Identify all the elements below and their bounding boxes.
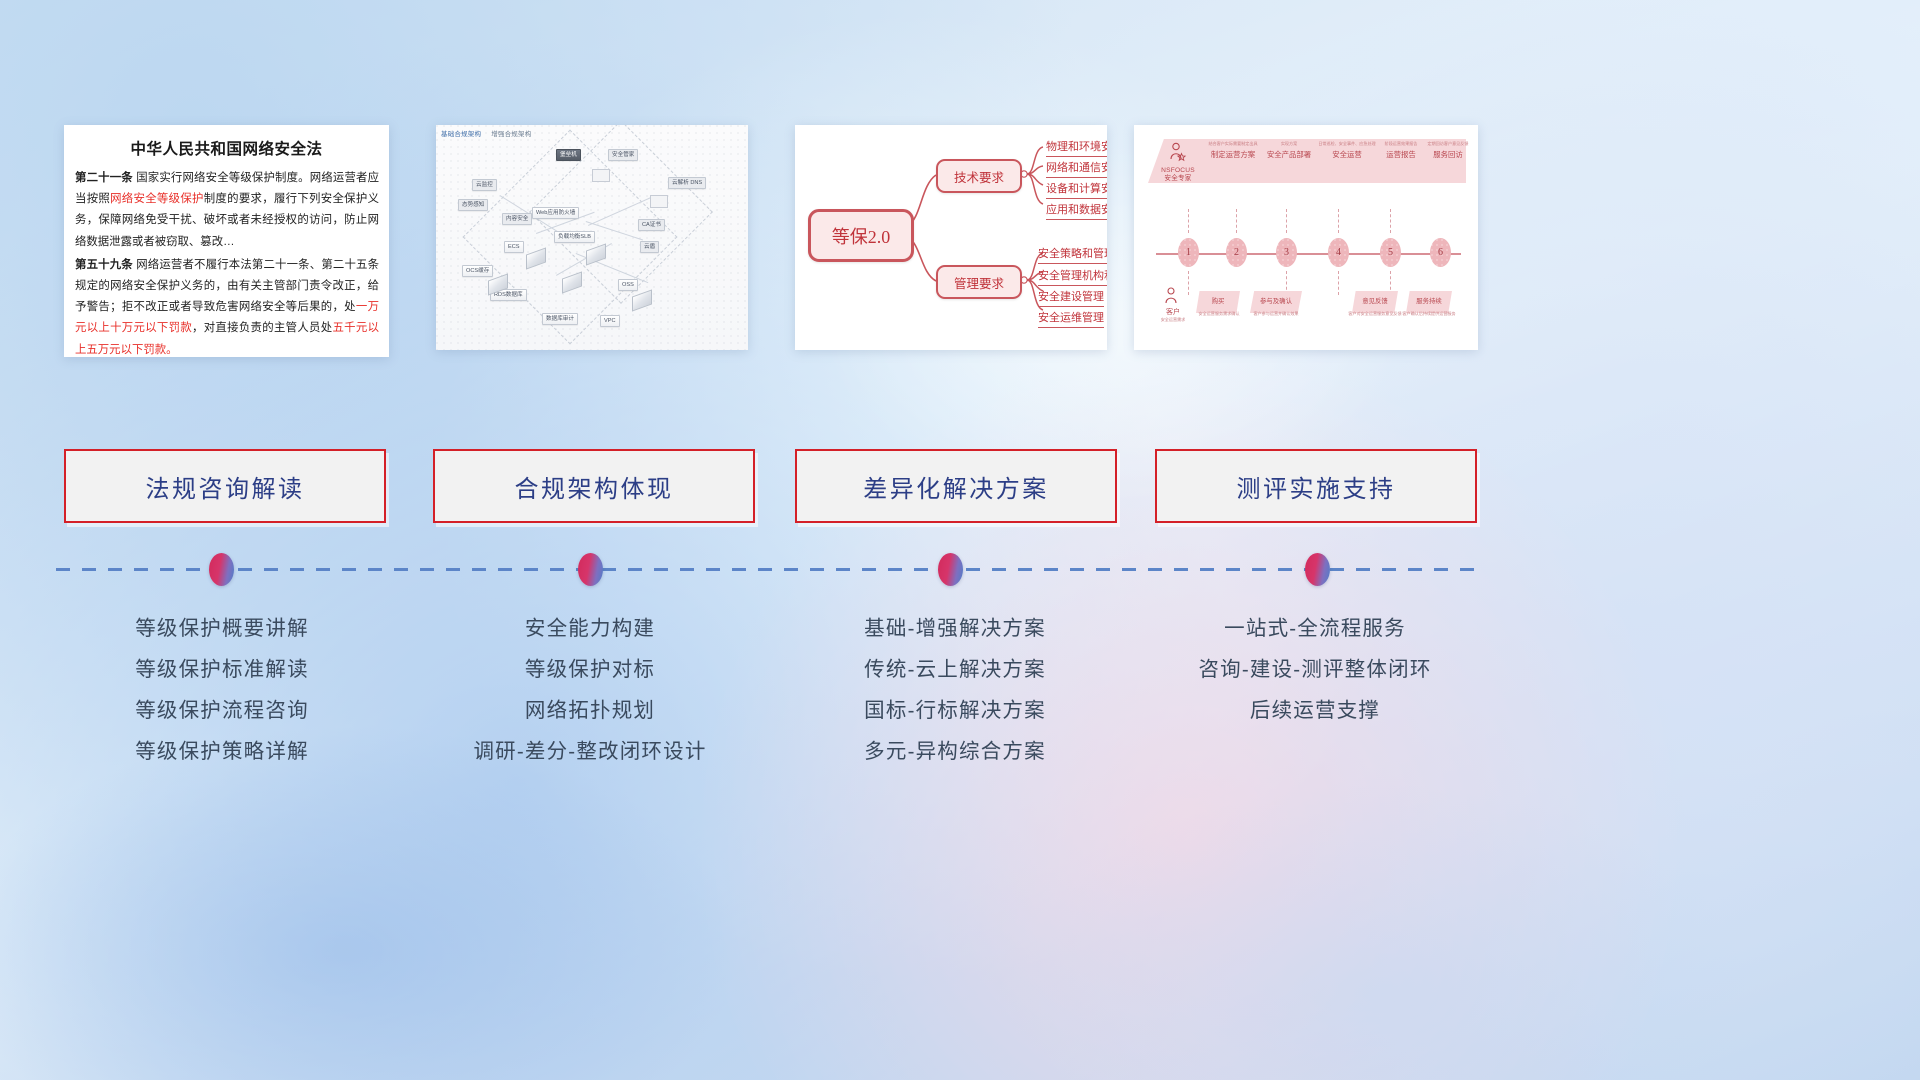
nsfocus-step: 4 — [1328, 238, 1349, 267]
law-paragraph: 第二十一条 国家实行网络安全等级保护制度。网络运营者应当按照网络安全等级保护制度… — [75, 168, 379, 253]
headline-label: 测评实施支持 — [1237, 469, 1396, 504]
law-article-number: 第五十九条 — [75, 259, 133, 271]
nsfocus-connector — [1236, 209, 1237, 233]
architecture-node: VPC — [600, 315, 620, 327]
architecture-node: OCS缓存 — [462, 265, 493, 277]
nsfocus-phase-sub: 实现方案 — [1262, 141, 1316, 146]
nsfocus-phase-sub: 定期回访客户意见反馈 — [1424, 141, 1472, 146]
mindmap-leaf: 设备和计算安全 — [1046, 180, 1107, 199]
nsfocus-phase: 实现方案 安全产品部署 — [1262, 141, 1316, 160]
nsfocus-phase: 定期回访客户意见反馈 服务回访 — [1424, 141, 1472, 160]
mindmap-leaf: 安全建设管理 — [1038, 288, 1104, 307]
nsfocus-bottom-tag: 购买 — [1196, 291, 1240, 313]
bullet-item: 后续运营支撑 — [1150, 690, 1480, 731]
headline-label: 合规架构体现 — [515, 469, 674, 504]
architecture-node: 内容安全 — [502, 213, 532, 225]
headline-box-differentiated-solution[interactable]: 差异化解决方案 — [795, 449, 1117, 523]
nsfocus-bottom-sub: 客户参与运营并确认效果 — [1246, 311, 1306, 317]
nsfocus-connector — [1338, 271, 1339, 295]
nsfocus-step: 5 — [1380, 238, 1401, 267]
nsfocus-expert-block: NSFOCUS 安全专家 — [1156, 142, 1200, 183]
card-mindmap-dengbao[interactable]: 等保2.0 技术要求 管理要求 物理和环境安全 网络和通信安全 设备和计算安全 … — [795, 125, 1107, 350]
headline-label: 法规咨询解读 — [146, 469, 305, 504]
nsfocus-phase-main: 制定运营方案 — [1206, 149, 1260, 160]
nsfocus-connector — [1338, 209, 1339, 233]
nsfocus-step: 2 — [1226, 238, 1247, 267]
nsfocus-phase-main: 安全运营 — [1318, 149, 1376, 160]
bullet-item: 等级保护标准解读 — [57, 649, 387, 690]
nsfocus-bottom-tag: 意见反馈 — [1352, 291, 1398, 313]
bullet-item: 传统-云上解决方案 — [790, 649, 1120, 690]
nsfocus-phase-sub: 阶段运营效果报告 — [1376, 141, 1426, 146]
architecture-node: 负载均衡SLB — [554, 231, 595, 243]
bullet-item: 咨询-建设-测评整体闭环 — [1150, 649, 1480, 690]
bullet-group-assessment-support: 一站式-全流程服务 咨询-建设-测评整体闭环 后续运营支撑 — [1150, 608, 1480, 731]
law-highlight-segment: 网络安全等级保护 — [110, 193, 204, 205]
law-card-body: 第二十一条 国家实行网络安全等级保护制度。网络运营者应当按照网络安全等级保护制度… — [64, 168, 389, 357]
nsfocus-step: 3 — [1276, 238, 1297, 267]
device-icon — [592, 169, 610, 182]
architecture-node: 堡垒机 — [556, 149, 581, 161]
nsfocus-bottom-sub: 客户确认后持续提供运营服务 — [1400, 311, 1458, 317]
law-text-segment: ，对直接负责的主管人员处 — [192, 322, 332, 334]
cards-row: 中华人民共和国网络安全法 第二十一条 国家实行网络安全等级保护制度。网络运营者应… — [0, 125, 1920, 360]
nsfocus-connector — [1188, 209, 1189, 233]
bullet-item: 一站式-全流程服务 — [1150, 608, 1480, 649]
architecture-node: Web应用防火墙 — [532, 207, 579, 219]
nsfocus-axis-line — [1156, 253, 1461, 255]
bullet-item: 安全能力构建 — [425, 608, 755, 649]
architecture-header-left: 基础合规架构 — [441, 131, 481, 138]
mindmap-branch-technical[interactable]: 技术要求 — [936, 159, 1022, 193]
headline-label: 差异化解决方案 — [863, 469, 1049, 504]
bullet-item: 基础-增强解决方案 — [790, 608, 1120, 649]
headline-box-regulation-consulting[interactable]: 法规咨询解读 — [64, 449, 386, 523]
card-nsfocus-timeline[interactable]: NSFOCUS 安全专家 结合客户实际需要制定出具 制定运营方案 实现方案 安全… — [1134, 125, 1478, 350]
mindmap-leaf: 应用和数据安全 — [1046, 201, 1107, 220]
nsfocus-bottom-sub: 安全运营服务需求确认 — [1192, 311, 1246, 317]
bullet-item: 网络拓扑规划 — [425, 690, 755, 731]
architecture-node: ECS — [504, 241, 524, 253]
architecture-diagram-canvas: 基础合规架构增强合规架构 堡垒机 云监控 态势感知 内容安全 安全管家 云解析 … — [436, 125, 748, 350]
nsfocus-phase-main: 服务回访 — [1424, 149, 1472, 160]
nsfocus-phase-main: 运营报告 — [1376, 149, 1426, 160]
architecture-node: OSS — [618, 279, 638, 291]
nsfocus-expert-role: 安全专家 — [1156, 175, 1200, 183]
timeline-dot — [1305, 553, 1330, 586]
nsfocus-bottom-tag: 服务持续 — [1406, 291, 1452, 313]
headline-box-assessment-support[interactable]: 测评实施支持 — [1155, 449, 1477, 523]
nsfocus-bottom-sub: 客户对安全运营服务意见反馈 — [1346, 311, 1404, 317]
nsfocus-phase: 日常巡检、安全事件、应急处理 安全运营 — [1318, 141, 1376, 160]
card-cybersecurity-law[interactable]: 中华人民共和国网络安全法 第二十一条 国家实行网络安全等级保护制度。网络运营者应… — [64, 125, 389, 357]
nsfocus-step: 1 — [1178, 238, 1199, 267]
law-card-title: 中华人民共和国网络安全法 — [64, 137, 389, 159]
nsfocus-phase: 阶段运营效果报告 运营报告 — [1376, 141, 1426, 160]
bullet-item: 多元-异构综合方案 — [790, 731, 1120, 772]
architecture-node: CA证书 — [638, 219, 665, 231]
nsfocus-phase-main: 安全产品部署 — [1262, 149, 1316, 160]
architecture-node: 云监控 — [472, 179, 497, 191]
timeline-dot — [209, 553, 234, 586]
card-compliance-architecture[interactable]: 基础合规架构增强合规架构 堡垒机 云监控 态势感知 内容安全 安全管家 云解析 … — [436, 125, 748, 350]
expert-person-icon — [1167, 142, 1189, 162]
timeline-dot — [578, 553, 603, 586]
nsfocus-phase-sub: 结合客户实际需要制定出具 — [1206, 141, 1260, 146]
timeline-dot — [938, 553, 963, 586]
bullet-item: 等级保护策略详解 — [57, 731, 387, 772]
nsfocus-connector — [1286, 209, 1287, 233]
nsfocus-connector — [1390, 209, 1391, 233]
architecture-header-right: 增强合规架构 — [491, 131, 531, 138]
nsfocus-phase: 结合客户实际需要制定出具 制定运营方案 — [1206, 141, 1260, 160]
mindmap-leaf: 网络和通信安全 — [1046, 159, 1107, 178]
bullet-group-compliance-architecture: 安全能力构建 等级保护对标 网络拓扑规划 调研-差分-整改闭环设计 — [425, 608, 755, 772]
architecture-node: 云解析 DNS — [668, 177, 706, 189]
law-paragraph: 第五十九条 网络运营者不履行本法第二十一条、第二十五条规定的网络安全保护义务的，… — [75, 255, 379, 357]
architecture-node: 态势感知 — [458, 199, 488, 211]
mindmap-leaf: 安全管理机构和人员 — [1038, 267, 1107, 286]
bullet-group-differentiated-solution: 基础-增强解决方案 传统-云上解决方案 国标-行标解决方案 多元-异构综合方案 — [790, 608, 1120, 772]
law-article-number: 第二十一条 — [75, 172, 133, 184]
nsfocus-customer-block: 客户 安全运营需求 — [1152, 287, 1194, 323]
mindmap-canvas: 等保2.0 技术要求 管理要求 物理和环境安全 网络和通信安全 设备和计算安全 … — [795, 125, 1107, 350]
nsfocus-step: 6 — [1430, 238, 1451, 267]
nsfocus-phase-sub: 日常巡检、安全事件、应急处理 — [1318, 141, 1376, 146]
architecture-node: 云盾 — [640, 241, 659, 253]
nsfocus-expert-name: NSFOCUS — [1156, 167, 1200, 175]
server-cube-icon — [632, 289, 652, 311]
architecture-diagram-header: 基础合规架构增强合规架构 — [441, 128, 531, 138]
architecture-node: 安全管家 — [608, 149, 638, 161]
mindmap-leaf: 安全运维管理 — [1038, 309, 1104, 328]
bullet-item: 等级保护概要讲解 — [57, 608, 387, 649]
bullet-item: 等级保护流程咨询 — [57, 690, 387, 731]
bullet-group-regulation-consulting: 等级保护概要讲解 等级保护标准解读 等级保护流程咨询 等级保护策略详解 — [57, 608, 387, 772]
dashed-timeline-axis — [56, 568, 1480, 571]
nsfocus-bottom-tag: 参与及确认 — [1250, 291, 1302, 313]
bullet-item: 调研-差分-整改闭环设计 — [425, 731, 755, 772]
architecture-node: 数据库审计 — [542, 313, 578, 325]
mindmap-leaf: 安全策略和管理制度 — [1038, 245, 1107, 264]
mindmap-leaf: 物理和环境安全 — [1046, 138, 1107, 157]
mindmap-branch-management[interactable]: 管理要求 — [936, 265, 1022, 299]
device-icon — [650, 195, 668, 208]
mindmap-root-node[interactable]: 等保2.0 — [808, 209, 914, 262]
headline-box-compliance-architecture[interactable]: 合规架构体现 — [433, 449, 755, 523]
nsfocus-customer-label: 客户 — [1152, 307, 1194, 317]
nsfocus-customer-sub: 安全运营需求 — [1152, 317, 1194, 323]
bullet-item: 国标-行标解决方案 — [790, 690, 1120, 731]
customer-person-icon — [1163, 287, 1183, 305]
nsfocus-canvas: NSFOCUS 安全专家 结合客户实际需要制定出具 制定运营方案 实现方案 安全… — [1134, 125, 1478, 350]
bullet-item: 等级保护对标 — [425, 649, 755, 690]
